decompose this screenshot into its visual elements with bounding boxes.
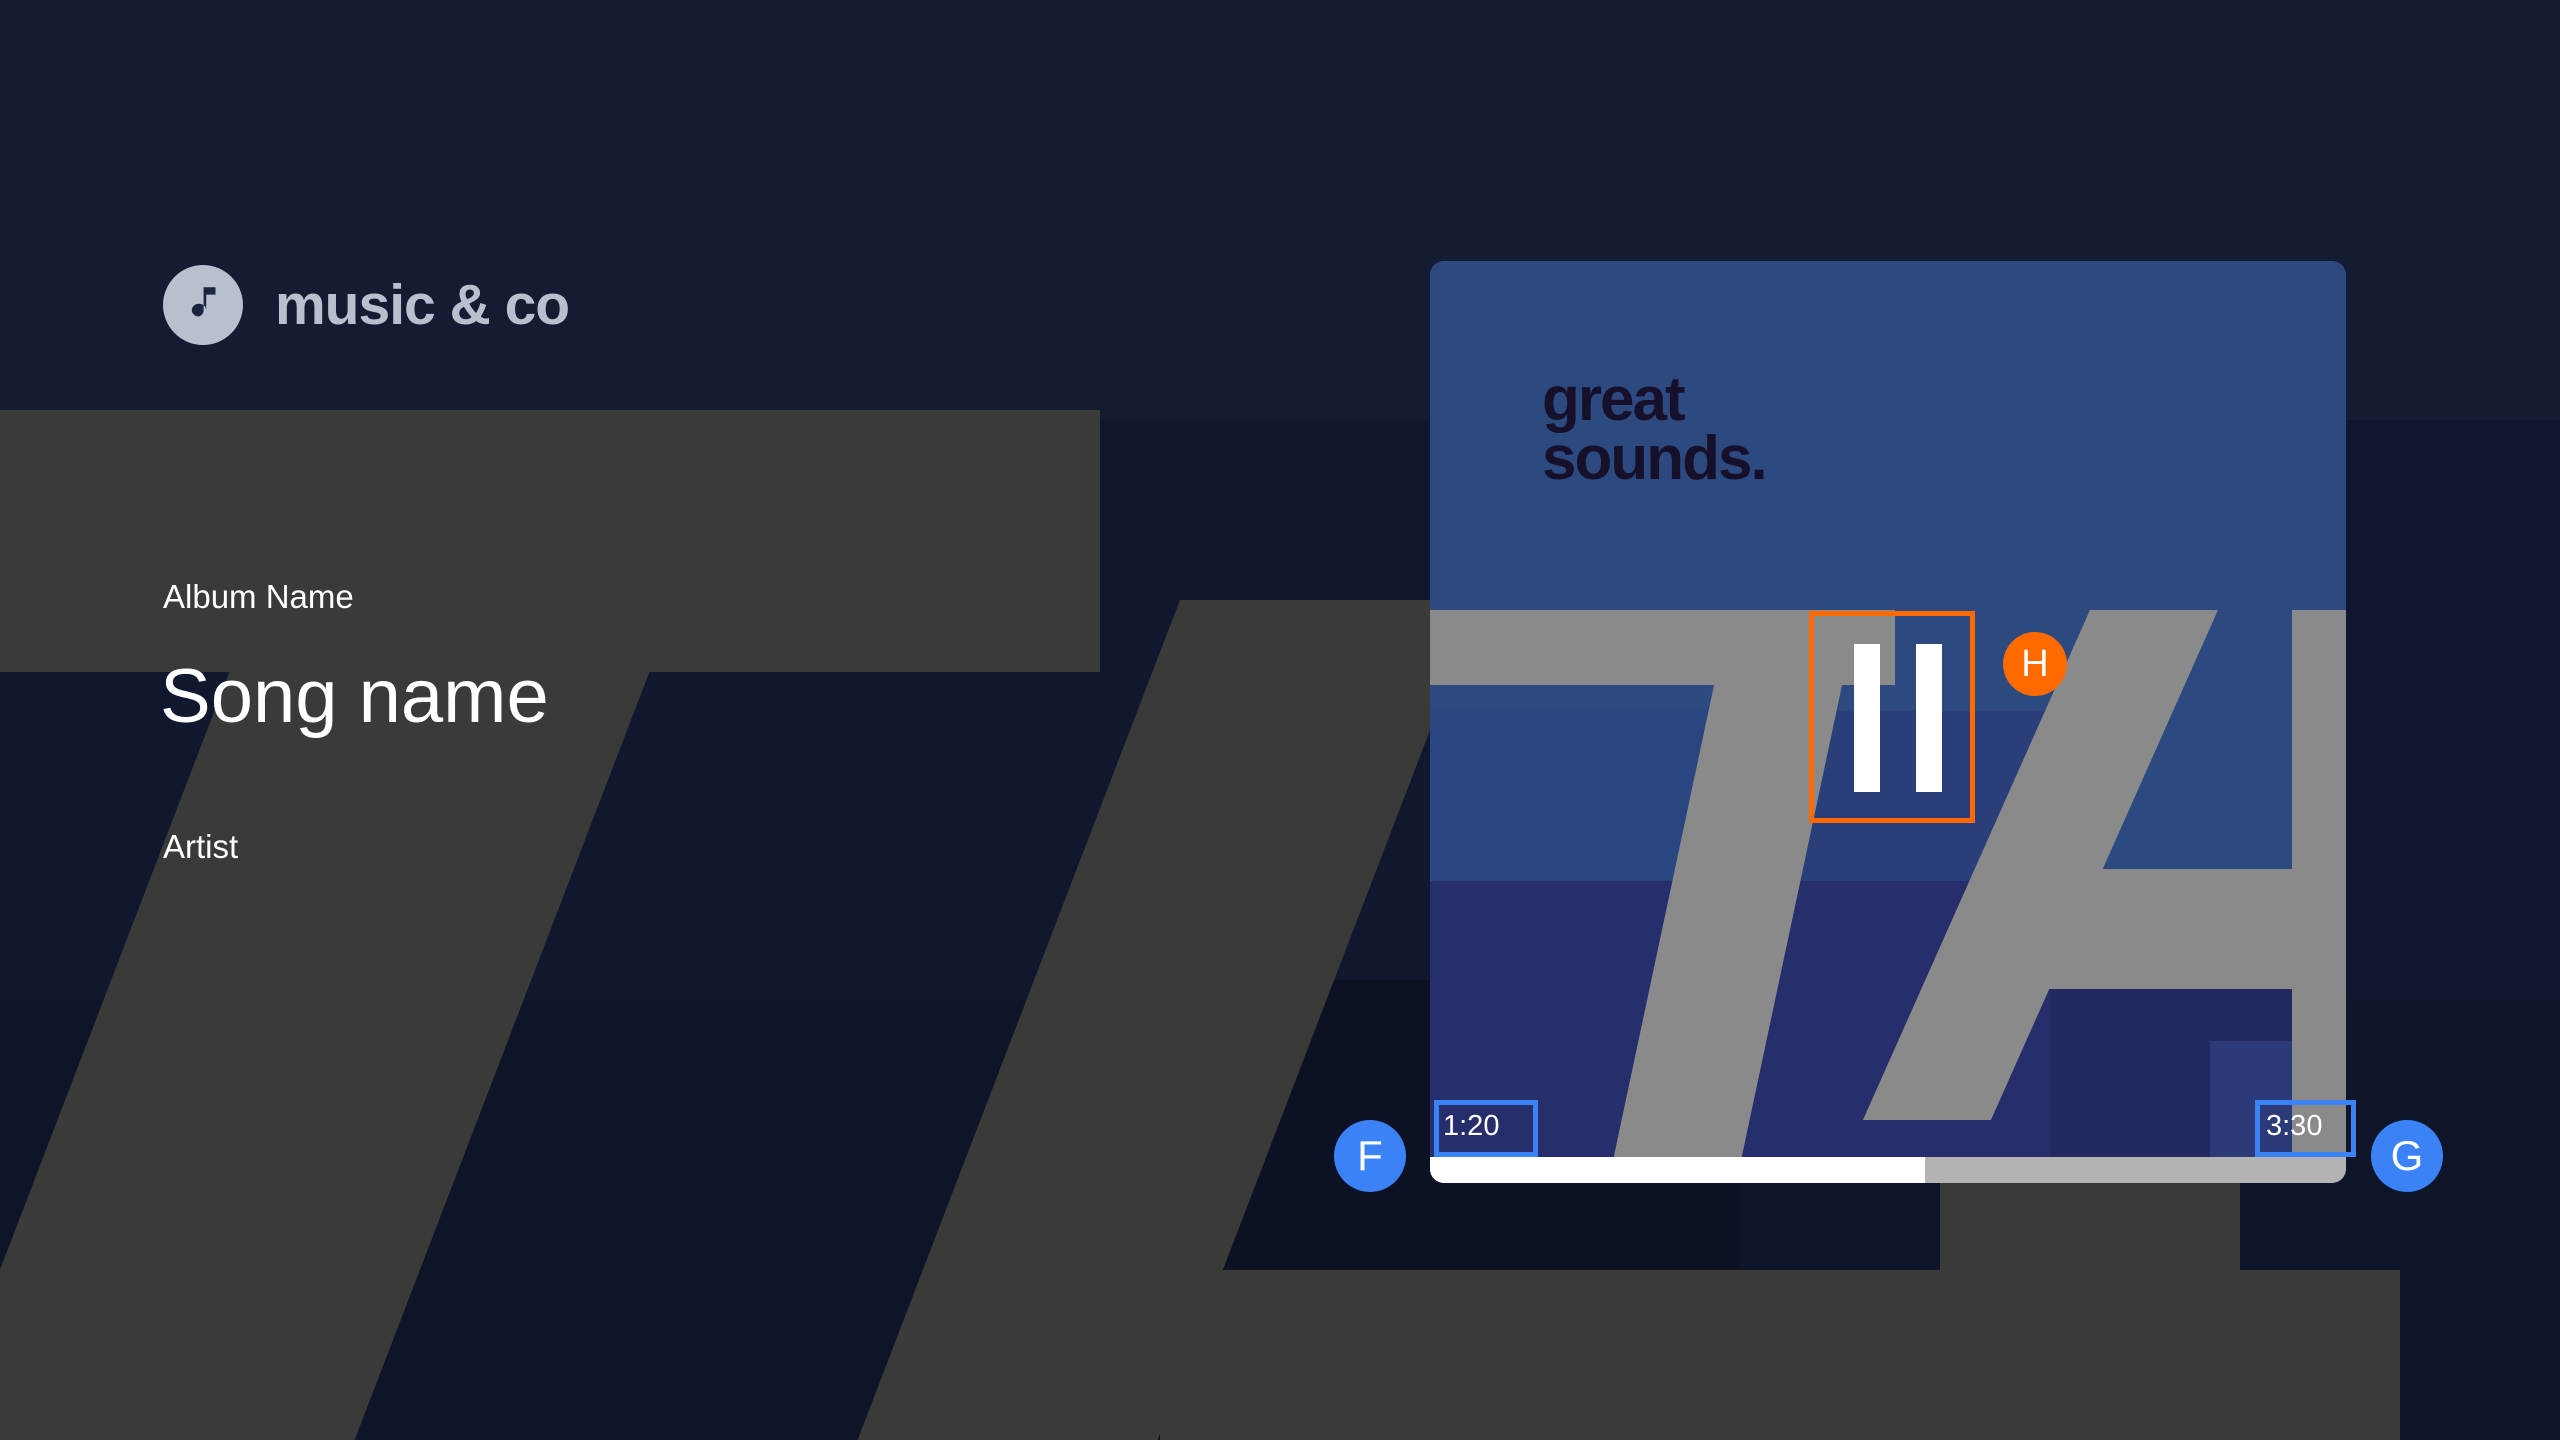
progress-bar[interactable] bbox=[1430, 1157, 2346, 1183]
artist-name: Artist bbox=[163, 828, 238, 866]
artwork-headline: great sounds. bbox=[1542, 371, 1766, 489]
pause-button[interactable] bbox=[1818, 615, 1978, 820]
pause-icon-bar-left bbox=[1854, 644, 1880, 792]
total-time: 3:30 bbox=[2266, 1110, 2322, 1143]
progress-bar-fill bbox=[1430, 1157, 1925, 1183]
artwork-headline-line2: sounds. bbox=[1542, 430, 1766, 489]
artwork-four-crossbar bbox=[1990, 869, 2346, 989]
background-watermark-four-crossbar bbox=[1160, 1270, 2400, 1440]
song-title: Song name bbox=[160, 655, 549, 739]
brand-name: music & co bbox=[275, 277, 569, 334]
annotation-marker-h: H bbox=[2003, 632, 2067, 696]
annotation-marker-g: G bbox=[2371, 1120, 2443, 1192]
pause-icon-bar-right bbox=[1916, 644, 1942, 792]
player-screen: music & co Album Name Song name Artist g… bbox=[0, 0, 2560, 1440]
music-note-icon bbox=[163, 265, 243, 345]
annotation-marker-f: F bbox=[1334, 1120, 1406, 1192]
brand-logo[interactable]: music & co bbox=[163, 265, 569, 345]
elapsed-time: 1:20 bbox=[1443, 1110, 1499, 1143]
album-name: Album Name bbox=[163, 578, 354, 616]
artwork-headline-line1: great bbox=[1542, 371, 1766, 430]
